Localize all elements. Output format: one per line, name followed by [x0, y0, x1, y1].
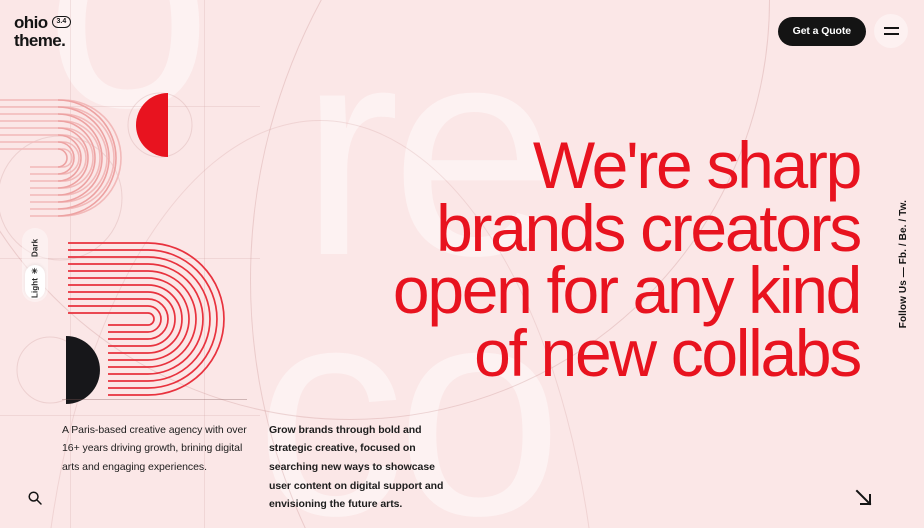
- headline-line-2: brands creators: [300, 197, 860, 260]
- arrow-down-right-icon[interactable]: [852, 486, 876, 510]
- headline-line-4: of new collabs: [300, 322, 860, 385]
- brand-wordmark: ohio 3.4 theme.: [14, 14, 71, 50]
- theme-toggle[interactable]: Dark Light ☀: [22, 228, 48, 302]
- hero-page: o re co: [0, 0, 924, 528]
- column-divider: [62, 399, 247, 400]
- mission-column: Grow brands through bold and strategic c…: [269, 399, 454, 514]
- theme-option-dark[interactable]: Dark: [25, 231, 45, 265]
- site-header: ohio 3.4 theme. Get a Quote: [0, 0, 924, 62]
- social-links: Follow Us — Fb. / Be. / Tw.: [888, 0, 918, 528]
- brand-name-line1: ohio: [14, 14, 48, 32]
- version-badge: 3.4: [52, 16, 72, 28]
- about-paragraph: A Paris-based creative agency with over …: [62, 421, 247, 477]
- theme-light-label: Light: [31, 278, 40, 298]
- headline-line-1: We're sharp: [300, 134, 860, 197]
- headline-line-3: open for any kind: [300, 259, 860, 322]
- mission-paragraph: Grow brands through bold and strategic c…: [269, 421, 454, 514]
- brand-name-line2: theme.: [14, 32, 71, 50]
- theme-option-light[interactable]: Light ☀: [25, 265, 45, 299]
- sun-icon: ☀: [31, 266, 39, 275]
- get-a-quote-button[interactable]: Get a Quote: [778, 17, 866, 46]
- brand-logo[interactable]: ohio 3.4 theme.: [14, 14, 71, 50]
- search-icon[interactable]: [24, 487, 46, 509]
- hero-headline: We're sharp brands creators open for any…: [300, 134, 860, 385]
- follow-us-label[interactable]: Follow Us — Fb. / Be. / Tw.: [898, 200, 909, 328]
- hero-bottom-columns: A Paris-based creative agency with over …: [0, 399, 924, 514]
- about-column: A Paris-based creative agency with over …: [62, 399, 247, 514]
